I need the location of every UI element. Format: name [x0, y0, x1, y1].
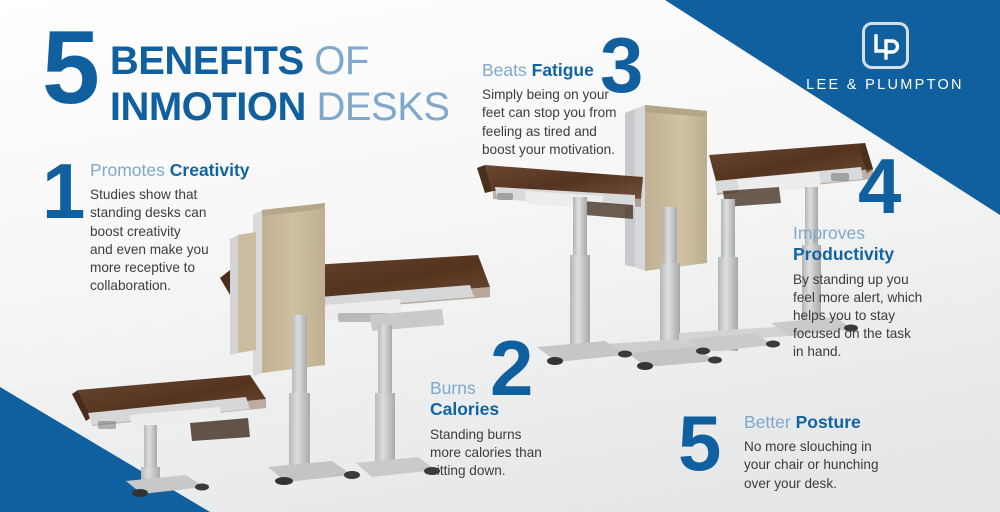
- headline-inmotion-word: INMOTION: [110, 85, 306, 129]
- headline-of-word: OF: [314, 39, 369, 83]
- infographic-poster: 5 BENEFITS OF INMOTION DESKS LEE & PLUMP…: [0, 0, 1000, 512]
- benefit-3-title: Beats Fatigue: [482, 60, 692, 81]
- benefit-3-text: Beats Fatigue Simply being on your feet …: [482, 60, 692, 159]
- benefit-5-text: Better Posture No more slouching in your…: [744, 412, 928, 493]
- benefit-item-5: 5 Better Posture No more slouching in yo…: [678, 412, 928, 493]
- benefit-3-title-light: Beats: [482, 60, 527, 80]
- benefit-4-title-bold: Productivity: [793, 244, 953, 265]
- headline-desks-word: DESKS: [316, 85, 449, 129]
- benefit-3-body: Simply being on your feet can stop you f…: [482, 86, 692, 158]
- benefit-1-body: Studies show that standing desks can boo…: [90, 186, 282, 294]
- brand-logo: LEE & PLUMPTON: [800, 22, 970, 93]
- benefit-4-text: Improves Productivity By standing up you…: [793, 223, 953, 361]
- headline-lines: BENEFITS OF INMOTION DESKS: [110, 24, 450, 131]
- headline-line-1: BENEFITS OF: [110, 38, 450, 84]
- headline: 5 BENEFITS OF INMOTION DESKS: [42, 24, 450, 131]
- benefit-5-title-bold: Posture: [796, 412, 861, 432]
- benefit-1-title-light: Promotes: [90, 160, 165, 180]
- benefit-1-title: Promotes Creativity: [90, 160, 282, 181]
- benefit-4-body: By standing up you feel more alert, whic…: [793, 271, 953, 361]
- benefit-5-title: Better Posture: [744, 412, 928, 433]
- headline-big-number: 5: [42, 24, 96, 113]
- benefit-1-number: 1: [42, 160, 82, 224]
- headline-line-2: INMOTION DESKS: [110, 84, 450, 130]
- benefit-item-1: 1 Promotes Creativity Studies show that …: [42, 160, 282, 295]
- benefit-1-title-bold: Creativity: [170, 160, 250, 180]
- benefit-5-body: No more slouching in your chair or hunch…: [744, 438, 928, 492]
- benefit-item-3: 3 Beats Fatigue Simply being on your fee…: [482, 24, 692, 159]
- headline-benefits-word: BENEFITS: [110, 39, 304, 83]
- benefit-3-number: 3: [600, 34, 640, 98]
- benefit-3-title-bold: Fatigue: [532, 60, 594, 80]
- benefit-item-4: 4 Improves Productivity By standing up y…: [793, 155, 953, 361]
- benefit-2-number: 2: [490, 337, 530, 401]
- benefit-item-2: 2 Burns Calories Standing burns more cal…: [430, 352, 610, 480]
- benefit-1-text: Promotes Creativity Studies show that st…: [90, 160, 282, 295]
- benefit-5-number: 5: [678, 412, 718, 476]
- benefit-5-title-light: Better: [744, 412, 791, 432]
- benefit-2-body: Standing burns more calories than sittin…: [430, 426, 610, 480]
- brand-wordmark: LEE & PLUMPTON: [800, 77, 970, 93]
- benefit-4-number: 4: [858, 155, 898, 219]
- lp-monogram-icon: [862, 22, 909, 69]
